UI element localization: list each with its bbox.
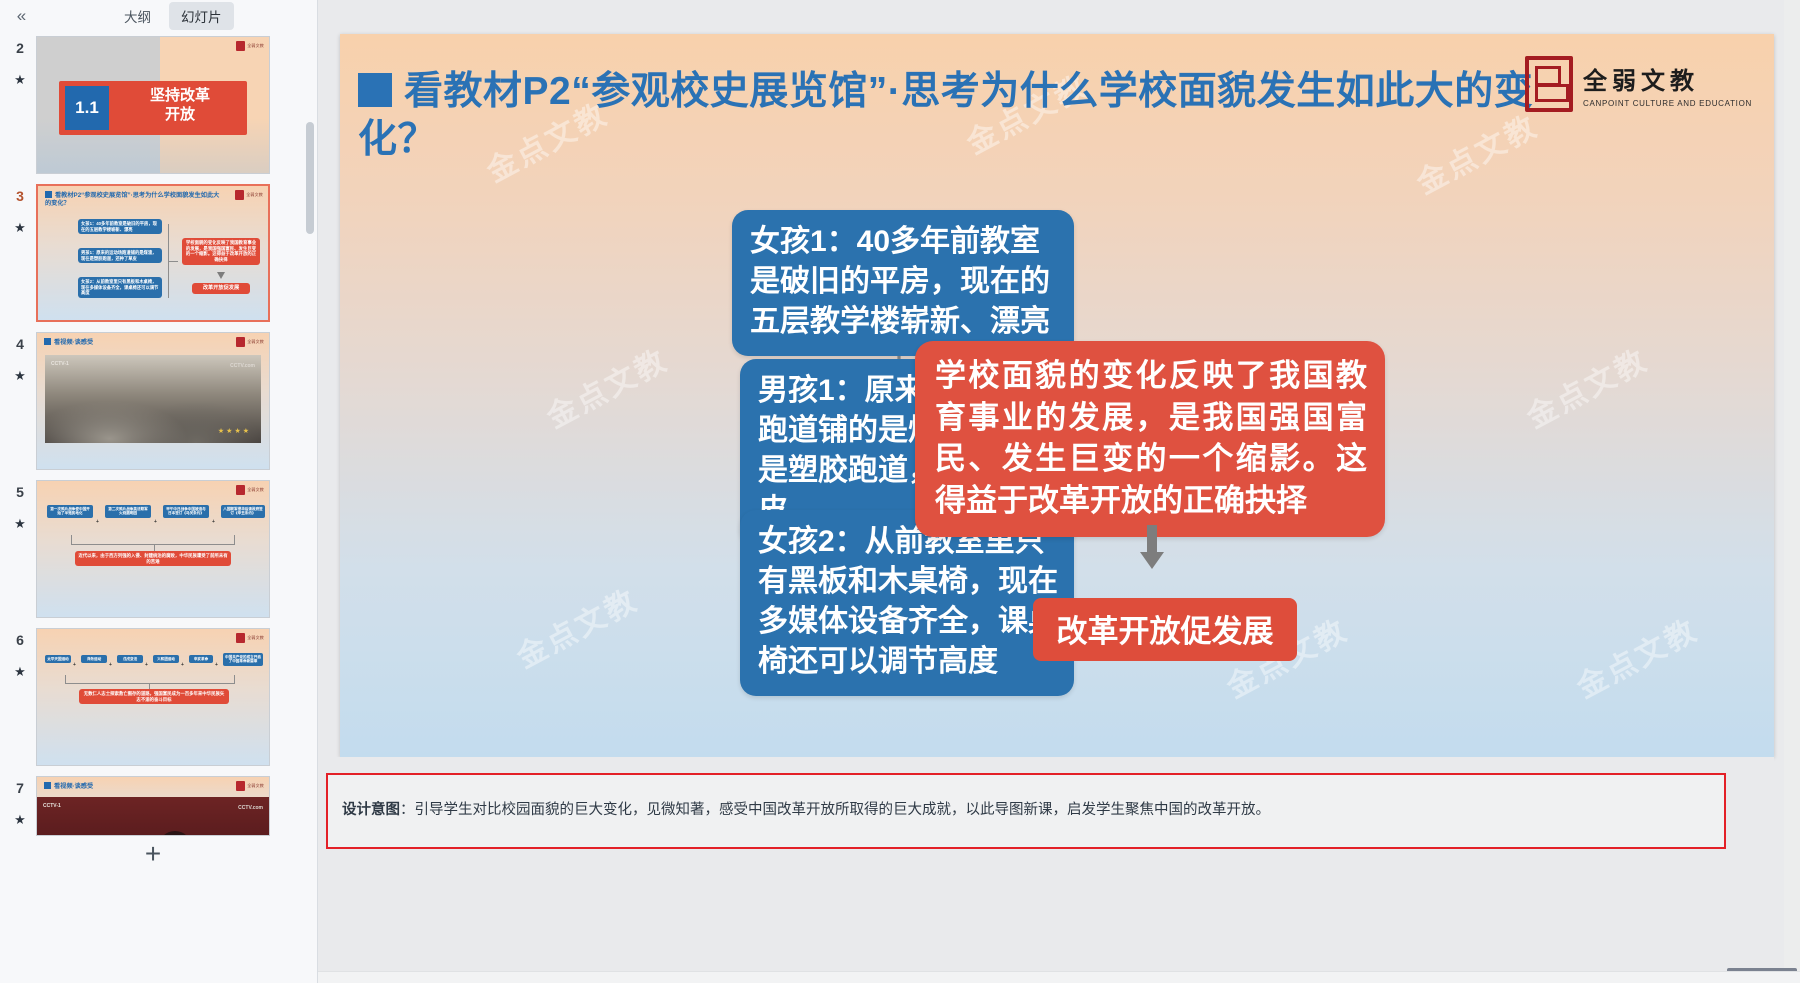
mini-photo: CCTV-1 CCTV.com [37, 797, 269, 835]
animation-star-icon: ★ [6, 812, 34, 828]
navigator-toolbar: « 大纲 幻灯片 [0, 0, 317, 32]
mini-cover-line2: 开放 [117, 106, 243, 125]
logo-text-en: CANPOINT CULTURE AND EDUCATION [1583, 99, 1752, 108]
navigator-tabs: 大纲 幻灯片 [112, 2, 234, 30]
mini-blue-box: 女孩1：40多年前教室是破旧的平房，现在的五层教学楼崭新、漂亮 [78, 219, 162, 234]
right-edge-strip [1784, 0, 1800, 983]
mini-chip: 洋务运动 [81, 655, 107, 663]
mini-slide: 全弱文教 1.1 坚持改革 开放 [37, 37, 269, 173]
mini-chip: 第一次鸦片战争使中国开始了半殖民地化 [47, 505, 93, 518]
slide-thumbnail-5[interactable]: 全弱文教 第一次鸦片战争使中国开始了半殖民地化 + 第二次鸦片战争英法联军火烧圆… [36, 480, 270, 618]
animation-star-icon: ★ [6, 72, 34, 88]
watermark: 金点文教 [1517, 336, 1654, 437]
note-label: 设计意图 [342, 802, 400, 818]
result-box[interactable]: 改革开放促发展 [1033, 598, 1297, 661]
mini-slide: 全弱文教 第一次鸦片战争使中国开始了半殖民地化 + 第二次鸦片战争英法联军火烧圆… [37, 481, 269, 617]
status-bar [318, 971, 1800, 983]
animation-star-icon: ★ [6, 664, 34, 680]
thumb-meta: 3 ★ [6, 180, 34, 236]
slide-editing-area: 金点文教 金点文教 金点文教 金点文教 金点文教 金点文教 金点文教 金点文教 … [318, 0, 1800, 983]
mini-chip: 中国共产党的成立开启了中国革命新篇章 [223, 653, 263, 666]
mini-blue-box: 女孩2：从前教室里只有黑板和木桌椅，现在多媒体设备齐全，课桌椅还可以调节高度 [78, 277, 162, 298]
animation-star-icon: ★ [6, 220, 34, 236]
mini-red-result: 改革开放促发展 [192, 283, 250, 294]
mini-title: 看视频·谈感受 [44, 782, 225, 791]
mini-chip: 第二次鸦片战争英法联军火烧圆明园 [105, 505, 151, 518]
cctv-left-label: CCTV-1 [51, 361, 69, 367]
down-arrow-icon [1140, 525, 1164, 569]
mini-logo: 全弱文教 [236, 781, 264, 791]
mini-title: 看教材P2“参观校史展览馆”·思考为什么学校面貌发生如此大的变化？ [45, 191, 224, 209]
animation-star-icon: ★ [6, 368, 34, 384]
slide-number: 6 [6, 632, 34, 648]
cctv-right-label: CCTV.com [230, 363, 255, 369]
mini-slide: 全弱文教 看教材P2“参观校史展览馆”·思考为什么学校面貌发生如此大的变化？ 女… [38, 186, 268, 320]
logo-text-cn: 全弱文教 [1583, 61, 1752, 96]
list-item[interactable]: 3 ★ 全弱文教 看教材P2“参观校史展览馆”·思考为什么学校面貌发生如此大的变… [0, 180, 318, 328]
tab-slides[interactable]: 幻灯片 [169, 2, 234, 30]
slide-number: 5 [6, 484, 34, 500]
mini-red-note: 近代以来，由于西方列强的入侵、封建统治的腐败，中华民族遭受了前所未有的苦难 [75, 551, 231, 566]
thumbnail-scrollbar-track[interactable] [308, 66, 316, 983]
note-body: 引导学生对比校园面貌的巨大变化，见微知著，感受中国改革开放所取得的巨大成就，以此… [415, 802, 1271, 818]
slide-number: 2 [6, 40, 34, 56]
notes-area: 设计意图：引导学生对比校园面貌的巨大变化，见微知著，感受中国改革开放所取得的巨大… [318, 757, 1774, 871]
list-item[interactable]: 6 ★ 全弱文教 太平天国运动 + 洋务运动 + 戊戌变法 + 义和团运动 [0, 624, 318, 772]
animation-star-icon: ★ [6, 516, 34, 532]
current-slide-canvas[interactable]: 金点文教 金点文教 金点文教 金点文教 金点文教 金点文教 金点文教 金点文教 … [340, 34, 1774, 757]
cctv-left-label: CCTV-1 [43, 803, 61, 809]
add-slide-button[interactable]: + [36, 840, 270, 868]
powerpoint-editor-window: « 大纲 幻灯片 2 ★ 全弱文教 [0, 0, 1800, 983]
thumb-meta: 4 ★ [6, 328, 34, 384]
mini-logo: 全弱文教 [235, 190, 263, 200]
list-item[interactable]: 2 ★ 全弱文教 1.1 坚持改革 开放 [0, 32, 318, 180]
thumb-meta: 2 ★ [6, 32, 34, 88]
collapse-panel-icon[interactable]: « [8, 6, 34, 26]
watermark: 金点文教 [537, 336, 674, 437]
title-text: 看教材P2“参观校史展览馆”·思考为什么学校面貌发生如此大的变化？ [358, 70, 1533, 161]
mini-slide: 全弱文教 看视频·谈感受 CCTV-1 CCTV.com [37, 777, 269, 835]
slide-number: 4 [6, 336, 34, 352]
mini-title: 看视频·谈感受 [44, 338, 225, 347]
slide-content: 金点文教 金点文教 金点文教 金点文教 金点文教 金点文教 金点文教 金点文教 … [340, 34, 1774, 757]
conclusion-box[interactable]: 学校面貌的变化反映了我国教育事业的发展，是我国强国富民、发生巨变的一个缩影。这得… [915, 341, 1385, 537]
mini-chip: 甲午中日战争中国被迫与日本签订《马关条约》 [163, 505, 209, 518]
note-separator: ： [400, 802, 415, 818]
list-item[interactable]: 5 ★ 全弱文教 第一次鸦片战争使中国开始了半殖民地化 + 第二次鸦片战争英法联… [0, 476, 318, 624]
watermark: 金点文教 [1567, 606, 1704, 707]
mini-chip: 八国联军侵华后清政府签订《辛丑条约》 [221, 505, 265, 518]
mini-slide: 全弱文教 看视频·谈感受 CCTV-1 CCTV.com ★★★★ [37, 333, 269, 469]
slide-thumbnail-4[interactable]: 全弱文教 看视频·谈感受 CCTV-1 CCTV.com ★★★★ [36, 332, 270, 470]
thumbnail-list[interactable]: 2 ★ 全弱文教 1.1 坚持改革 开放 [0, 32, 318, 983]
thumb-meta: 5 ★ [6, 476, 34, 532]
mini-logo: 全弱文教 [236, 41, 264, 51]
mini-logo: 全弱文教 [236, 485, 264, 495]
thumb-meta: 7 ★ [6, 772, 34, 828]
slide-number: 7 [6, 780, 34, 796]
brand-logo: 全弱文教 CANPOINT CULTURE AND EDUCATION [1525, 56, 1752, 112]
mini-chip: 太平天国运动 [45, 655, 71, 663]
title-bullet-square [358, 73, 392, 107]
mini-blue-box: 男孩1：原来的运动场跑道铺的是煤渣，现在是塑胶跑道，还种了草皮 [78, 248, 162, 263]
note-text: 设计意图：引导学生对比校园面貌的巨大变化，见微知著，感受中国改革开放所取得的巨大… [342, 800, 1270, 822]
slide-thumbnail-3[interactable]: 全弱文教 看教材P2“参观校史展览馆”·思考为什么学校面貌发生如此大的变化？ 女… [36, 184, 270, 322]
mini-chip: 戊戌变法 [117, 655, 143, 663]
mini-chip: 义和团运动 [153, 655, 179, 663]
watermark: 金点文教 [507, 576, 644, 677]
design-intent-note[interactable]: 设计意图：引导学生对比校园面貌的巨大变化，见微知著，感受中国改革开放所取得的巨大… [326, 773, 1726, 849]
logo-seal-icon [1525, 56, 1573, 112]
cctv-right-label: CCTV.com [238, 805, 263, 811]
mini-red-box: 学校面貌的变化反映了我国教育事业的发展，是我国强国富民、发生巨变的一个缩影。这得… [182, 238, 260, 265]
slide-navigator-panel: « 大纲 幻灯片 2 ★ 全弱文教 [0, 0, 318, 983]
mini-slide: 全弱文教 太平天国运动 + 洋务运动 + 戊戌变法 + 义和团运动 + 辛亥革命… [37, 629, 269, 765]
slide-thumbnail-2[interactable]: 全弱文教 1.1 坚持改革 开放 [36, 36, 270, 174]
slide-thumbnail-6[interactable]: 全弱文教 太平天国运动 + 洋务运动 + 戊戌变法 + 义和团运动 + 辛亥革命… [36, 628, 270, 766]
speech-box-girl-1[interactable]: 女孩1：40多年前教室是破旧的平房，现在的五层教学楼崭新、漂亮 [732, 210, 1074, 356]
slide-thumbnail-7[interactable]: 全弱文教 看视频·谈感受 CCTV-1 CCTV.com [36, 776, 270, 836]
mini-cover-line1: 坚持改革 [117, 87, 243, 106]
slide-number: 3 [6, 188, 34, 204]
mini-red-note: 无数仁人志士探索救亡图存的道路，强国富民成为一百多年来中华民族矢志不渝的奋斗目标 [79, 689, 229, 704]
tab-outline[interactable]: 大纲 [112, 2, 163, 30]
list-item[interactable]: 4 ★ 全弱文教 看视频·谈感受 CCTV-1 CCTV.com [0, 328, 318, 476]
mini-logo: 全弱文教 [236, 337, 264, 347]
mini-badge: 1.1 [65, 86, 109, 130]
thumbnail-scrollbar-thumb[interactable] [306, 122, 314, 234]
mini-chip: 辛亥革命 [189, 655, 213, 663]
page-title[interactable]: 看教材P2“参观校史展览馆”·思考为什么学校面貌发生如此大的变化？ [358, 68, 1574, 163]
mini-logo: 全弱文教 [236, 633, 264, 643]
speech-box-girl-2[interactable]: 女孩2：从前教室里只有黑板和木桌椅，现在多媒体设备齐全，课桌椅还可以调节高度 [740, 510, 1074, 696]
mini-photo: CCTV-1 CCTV.com ★★★★ [45, 355, 261, 443]
thumb-meta: 6 ★ [6, 624, 34, 680]
